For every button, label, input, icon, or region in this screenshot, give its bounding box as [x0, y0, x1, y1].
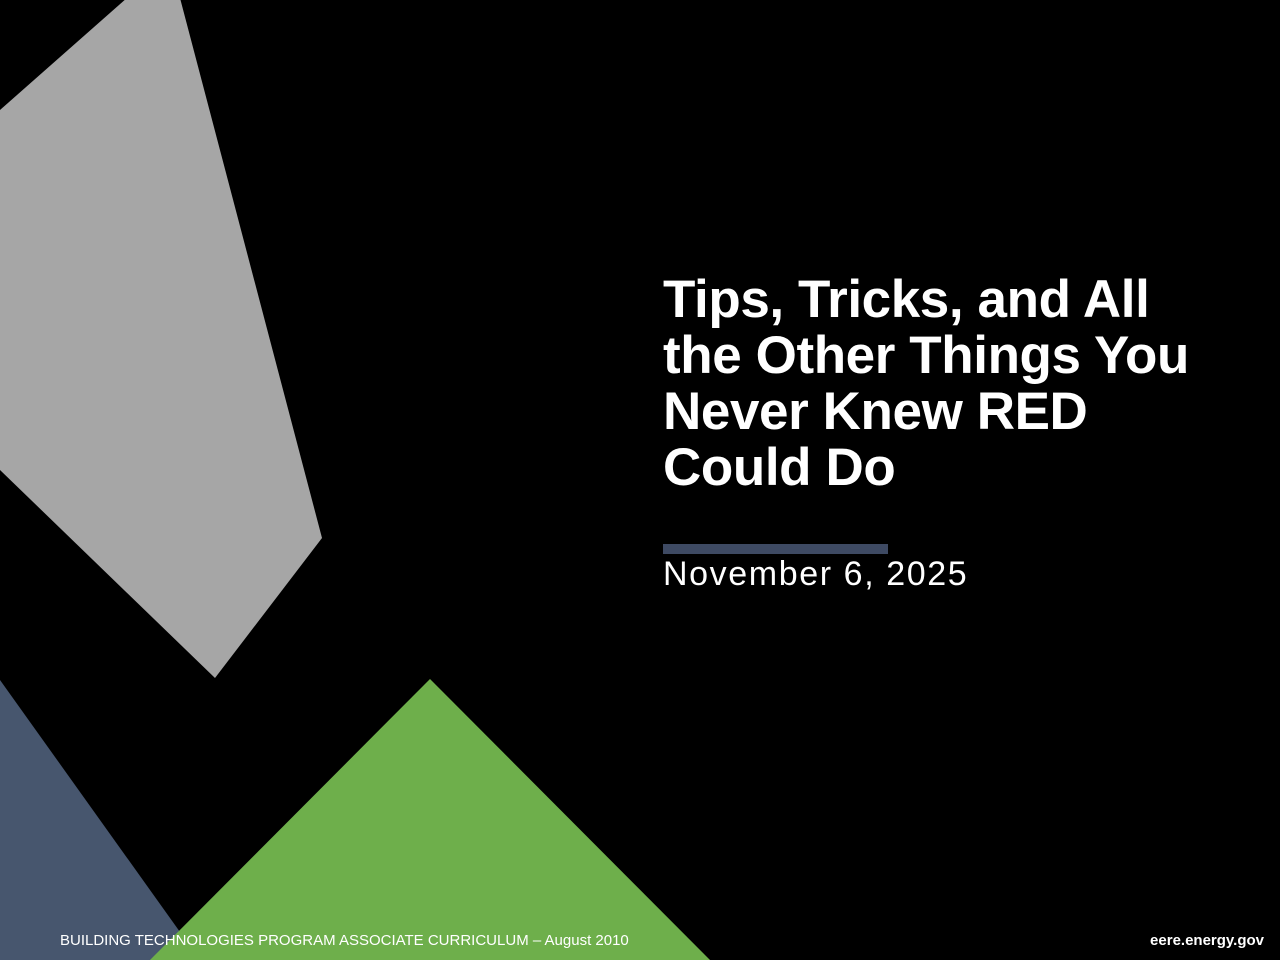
- slide-date: November 6, 2025: [663, 552, 968, 596]
- green-triangle: [150, 679, 710, 960]
- gray-diagonal-bar: [0, 0, 322, 678]
- footer-program-label: BUILDING TECHNOLOGIES PROGRAM ASSOCIATE …: [60, 922, 629, 960]
- title-slide: Tips, Tricks, and All the Other Things Y…: [0, 0, 1280, 960]
- footer-website-label: eere.energy.gov: [1150, 922, 1264, 960]
- blue-diagonal-wedge: [0, 680, 200, 960]
- slide-footer: BUILDING TECHNOLOGIES PROGRAM ASSOCIATE …: [0, 922, 1280, 960]
- title-block: Tips, Tricks, and All the Other Things Y…: [663, 272, 1223, 496]
- page-title: Tips, Tricks, and All the Other Things Y…: [663, 272, 1223, 496]
